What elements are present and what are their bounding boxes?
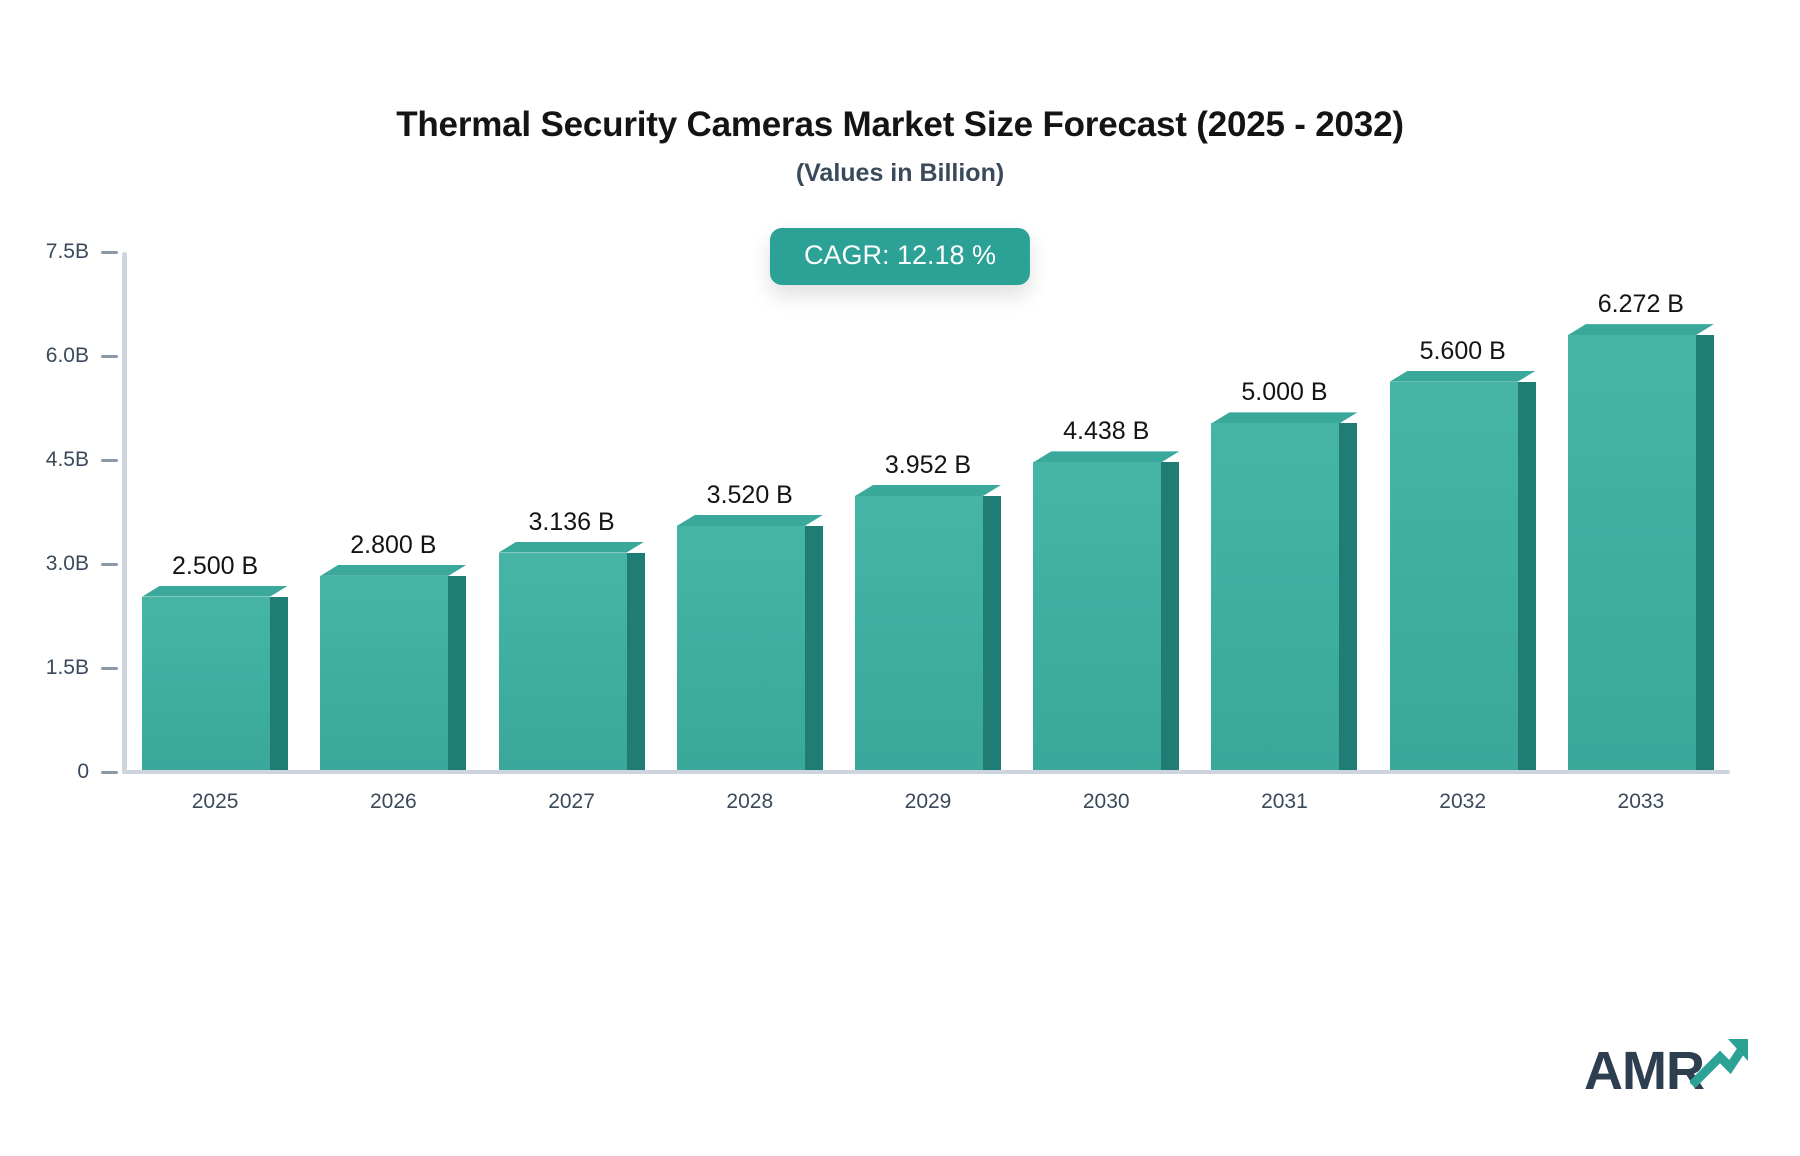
bar[interactable]: 3.520 B [677,526,823,770]
plot-area: 01.5B3.0B4.5B6.0B7.5B 2.500 B20252.800 B… [126,252,1730,772]
y-axis-tick: 6.0B [31,344,118,368]
y-axis-tick: 4.5B [31,448,118,472]
bar-side-face [1339,423,1357,770]
y-axis-tick-mark [101,459,118,462]
y-axis-tick-label: 6.0B [31,344,89,368]
x-axis-tick-label: 2031 [1211,790,1357,814]
y-axis-tick-mark [101,563,118,566]
bar-value-label: 6.272 B [1568,290,1714,319]
bar[interactable]: 5.600 B [1390,382,1536,770]
bar-side-face [805,526,823,770]
bar-side-face [270,597,288,770]
bar-front-face [1568,335,1696,770]
y-axis-tick-mark [101,771,118,774]
y-axis-tick-mark [101,355,118,358]
bar-series: 2.500 B20252.800 B20263.136 B20273.520 B… [126,252,1730,772]
x-axis-tick-label: 2026 [320,790,466,814]
bar-top-face [855,485,1001,496]
growth-arrow-icon [1690,1037,1748,1094]
bar[interactable]: 3.136 B [499,553,645,770]
bar-top-face [142,586,288,597]
x-axis-tick-label: 2029 [855,790,1001,814]
y-axis-tick: 3.0B [31,552,118,576]
bar-front-face [142,597,270,770]
bar-value-label: 5.000 B [1211,378,1357,407]
y-axis-tick-label: 7.5B [31,240,89,264]
bar[interactable]: 2.800 B [320,576,466,770]
bar-top-face [677,515,823,526]
bar-group[interactable]: 3.520 B [677,526,823,770]
y-axis-tick-mark [101,251,118,254]
bar-side-face [983,496,1001,770]
bar-side-face [448,576,466,770]
x-axis-tick-label: 2033 [1568,790,1714,814]
y-axis-tick-mark [101,667,118,670]
bar-top-face [499,542,645,553]
bar-group[interactable]: 2.500 B [142,597,288,770]
bar[interactable]: 4.438 B [1033,462,1179,770]
y-axis-tick-label: 4.5B [31,448,89,472]
y-axis-tick: 1.5B [31,656,118,680]
bar-front-face [1390,382,1518,770]
bar-group[interactable]: 3.952 B [855,496,1001,770]
bar-group[interactable]: 6.272 B [1568,335,1714,770]
bar-side-face [1696,335,1714,770]
bar-front-face [499,553,627,770]
bar-side-face [627,553,645,770]
bar-value-label: 3.136 B [499,508,645,537]
bar[interactable]: 5.000 B [1211,423,1357,770]
title-block: Thermal Security Cameras Market Size For… [0,104,1800,188]
bar-top-face [320,565,466,576]
bar-top-face [1390,371,1536,382]
bar-value-label: 5.600 B [1390,337,1536,366]
bar-side-face [1518,382,1536,770]
amr-logo: AMR [1584,1037,1748,1098]
amr-logo-text: AMR [1584,1044,1704,1098]
y-axis-tick-label: 1.5B [31,656,89,680]
x-axis-tick-label: 2032 [1390,790,1536,814]
bar-value-label: 2.800 B [320,531,466,560]
bar-group[interactable]: 3.136 B [499,553,645,770]
y-axis-tick-label: 0 [31,760,89,784]
bar-value-label: 2.500 B [142,552,288,581]
chart-figure: Thermal Security Cameras Market Size For… [0,0,1800,1156]
y-axis-tick: 0 [31,760,118,784]
bar-front-face [320,576,448,770]
bar-front-face [1033,462,1161,770]
bar[interactable]: 3.952 B [855,496,1001,770]
bar-value-label: 3.952 B [855,451,1001,480]
bar-group[interactable]: 5.000 B [1211,423,1357,770]
y-axis-tick-label: 3.0B [31,552,89,576]
y-axis-tick: 7.5B [31,240,118,264]
x-axis-tick-label: 2030 [1033,790,1179,814]
bar[interactable]: 2.500 B [142,597,288,770]
bar[interactable]: 6.272 B [1568,335,1714,770]
chart-subtitle: (Values in Billion) [0,158,1800,188]
bar-top-face [1033,451,1179,462]
bar-value-label: 3.520 B [677,481,823,510]
x-axis-tick-label: 2025 [142,790,288,814]
bar-front-face [855,496,983,770]
bar-value-label: 4.438 B [1033,417,1179,446]
bar-front-face [1211,423,1339,770]
bar-front-face [677,526,805,770]
bar-top-face [1211,412,1357,423]
page-title: Thermal Security Cameras Market Size For… [0,104,1800,146]
bar-group[interactable]: 5.600 B [1390,382,1536,770]
bar-side-face [1161,462,1179,770]
x-axis-tick-label: 2027 [499,790,645,814]
x-axis-tick-label: 2028 [677,790,823,814]
bar-top-face [1568,324,1714,335]
bar-group[interactable]: 2.800 B [320,576,466,770]
bar-group[interactable]: 4.438 B [1033,462,1179,770]
